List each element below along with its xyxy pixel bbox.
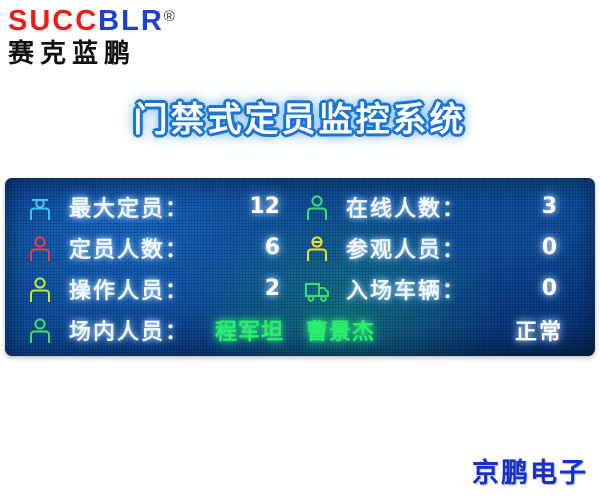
led-value: 6 (265, 235, 304, 260)
led-value: 0 (542, 276, 581, 301)
led-cell-vehicle-count: 入场车辆： 0 (304, 273, 581, 305)
led-cell-visitor-count: 参观人员： 0 (304, 232, 581, 264)
led-label: 参观人员： (346, 232, 466, 264)
led-cell-onsite-personnel: 场内人员： 程军坦 曹景杰 正常 (27, 314, 581, 346)
led-display-grid: 最大定员： 12 在线人数： 3 (5, 178, 595, 356)
registered-trademark-icon: ® (164, 2, 177, 32)
logo-chinese-wordmark: 赛克蓝鹏 (8, 38, 218, 70)
onsite-name: 曹景杰 (306, 314, 375, 346)
led-row: 操作人员： 2 入场车辆： 0 (27, 270, 581, 308)
person-helmet-icon (304, 234, 330, 262)
logo-latin-red: SUCC (8, 5, 98, 37)
onsite-name: 程军坦 (215, 314, 284, 346)
led-row: 最大定员： 12 在线人数： 3 (27, 188, 581, 226)
led-display-panel: 最大定员： 12 在线人数： 3 (5, 178, 595, 356)
led-cell-quota-count: 定员人数： 6 (27, 232, 304, 264)
company-logo: SUCCBLR® 赛克蓝鹏 (8, 6, 218, 72)
person-icon (27, 275, 53, 303)
led-label: 操作人员： (69, 273, 189, 305)
page-title: 门禁式定员监控系统 (0, 92, 600, 141)
person-icon (27, 234, 53, 262)
led-cell-operator-count: 操作人员： 2 (27, 273, 304, 305)
led-label: 定员人数： (69, 232, 189, 264)
led-label: 入场车辆： (346, 273, 466, 305)
truck-icon (304, 275, 330, 303)
logo-latin-blue: BLR (98, 5, 164, 37)
led-label: 最大定员： (69, 191, 189, 223)
led-cell-max-capacity: 最大定员： 12 (27, 191, 304, 223)
person-hat-icon (27, 193, 53, 221)
onsite-name-list: 程军坦 曹景杰 (215, 314, 375, 346)
led-label: 在线人数： (346, 191, 466, 223)
led-label: 场内人员： (69, 314, 189, 346)
status-badge: 正常 (515, 314, 581, 346)
led-value: 2 (265, 276, 304, 301)
led-cell-online-count: 在线人数： 3 (304, 191, 581, 223)
led-row: 定员人数： 6 参观人员： 0 (27, 229, 581, 267)
led-value: 3 (542, 194, 581, 219)
led-value: 12 (249, 194, 304, 219)
led-row-onsite: 场内人员： 程军坦 曹景杰 正常 (27, 311, 581, 349)
person-icon (304, 193, 330, 221)
led-value: 0 (542, 235, 581, 260)
person-icon (27, 316, 53, 344)
footer-brand-label: 京鹏电子 (472, 451, 588, 490)
logo-latin-wordmark: SUCCBLR® (8, 6, 218, 38)
